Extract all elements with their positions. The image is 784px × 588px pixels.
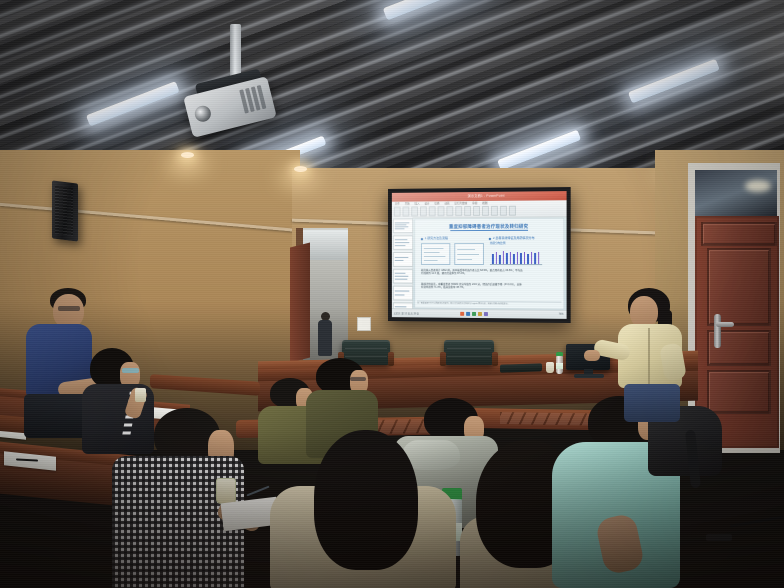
- ceiling-projector: [183, 24, 279, 132]
- monitor-base: [574, 374, 604, 378]
- projector-lens-icon: [193, 104, 212, 123]
- open-door-leaf[interactable]: [290, 243, 310, 363]
- standing-man-glasses-icon: [58, 306, 80, 311]
- floor-adapter: [706, 534, 732, 541]
- transom-reflection: [745, 180, 771, 192]
- projection-screen: 演示文稿1 - PowerPoint 文件 开始 插入 设计 切换 动画 幻灯片…: [392, 191, 567, 319]
- conference-room-photo: 演示文稿1 - PowerPoint 文件 开始 插入 设计 切换 动画 幻灯片…: [0, 0, 784, 588]
- person-checkered-shirt: [126, 408, 276, 588]
- presenter-jeans: [624, 384, 680, 422]
- person-cream-coat: [270, 430, 460, 588]
- floor-cable: [730, 515, 784, 527]
- cream-coat-hair: [314, 430, 418, 570]
- speaker-grille-icon: [55, 186, 73, 236]
- laptop-closed[interactable]: [500, 363, 542, 372]
- wall-speaker: [52, 180, 78, 241]
- paper-cup-front[interactable]: [216, 478, 236, 504]
- hallway-person: [318, 312, 332, 356]
- head-chair-2[interactable]: [444, 340, 494, 365]
- door-lever-icon[interactable]: [716, 322, 734, 327]
- projection-screen-frame: 演示文稿1 - PowerPoint 文件 开始 插入 设计 切换 动画 幻灯片…: [388, 187, 571, 323]
- door-transom-window: [695, 170, 777, 216]
- person-presenter: [604, 288, 698, 420]
- presenter-hand-left: [584, 350, 600, 361]
- paper-cup-desk[interactable]: [546, 362, 554, 373]
- water-bottle-desk[interactable]: [556, 352, 563, 374]
- downlight-1: [181, 152, 194, 158]
- dark-shirt-glasses-icon: [350, 377, 366, 381]
- light-switch[interactable]: [357, 317, 371, 331]
- downlight-2: [294, 166, 307, 172]
- head-chair-2-arm: [440, 352, 446, 366]
- blouse-placket: [648, 328, 650, 384]
- standing-man-head: [53, 294, 84, 328]
- paper-cup-attendee[interactable]: [135, 388, 146, 402]
- screen-glare: [392, 191, 567, 319]
- head-chair-2-arm: [492, 352, 498, 366]
- door-handle-icon[interactable]: [714, 314, 721, 348]
- head-chair-1-arm: [388, 352, 394, 366]
- black-jacket-glasses-icon: [122, 368, 139, 373]
